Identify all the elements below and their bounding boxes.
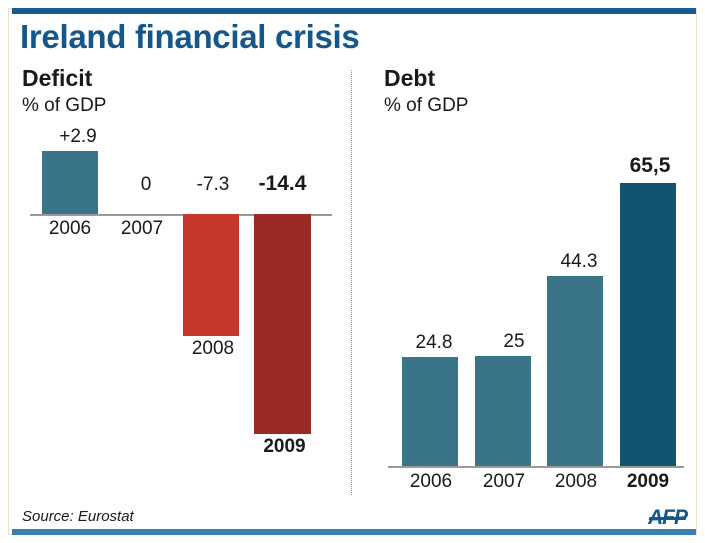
bottom-rule [12, 529, 696, 535]
deficit-value-label-2007: 0 [110, 174, 182, 196]
afp-logo: AFP [648, 506, 687, 530]
debt-value-label-2008: 44.3 [543, 251, 615, 273]
infographic-root: Ireland financial crisis Deficit % of GD… [0, 0, 705, 543]
source-credit: Source: Eurostat [22, 508, 134, 525]
debt-bar-2009 [620, 183, 676, 466]
debt-chart: 24.82544.365,52006200720082009 [384, 140, 684, 480]
debt-year-label-2009: 2009 [615, 471, 681, 493]
deficit-year-label-2009: 2009 [248, 436, 321, 458]
afp-logo-bar [649, 517, 687, 520]
deficit-bar-2008 [183, 214, 239, 336]
panel-deficit: Deficit % of GDP [22, 66, 344, 116]
deficit-year-label-2006: 2006 [34, 218, 106, 240]
panel-debt: Debt % of GDP [384, 66, 684, 116]
page-title: Ireland financial crisis [20, 18, 359, 56]
deficit-bar-2009 [254, 214, 311, 434]
deficit-year-label-2008: 2008 [177, 338, 249, 360]
debt-baseline-axis [388, 466, 684, 468]
deficit-year-label-2007: 2007 [106, 218, 178, 240]
debt-value-label-2007: 25 [478, 331, 550, 353]
debt-value-label-2009: 65,5 [614, 154, 686, 178]
deficit-value-label-2008: -7.3 [177, 174, 249, 196]
debt-bar-2008 [547, 276, 603, 466]
top-rule [12, 8, 696, 14]
deficit-bar-2006 [42, 151, 98, 214]
deficit-value-label-2009: -14.4 [246, 172, 319, 196]
deficit-subtitle: % of GDP [22, 96, 344, 116]
panel-divider [351, 70, 352, 495]
debt-year-label-2006: 2006 [398, 471, 464, 493]
deficit-chart: +2.9200602007-7.32008-14.42009 [22, 140, 342, 505]
debt-subtitle: % of GDP [384, 96, 684, 116]
debt-bar-2006 [402, 357, 458, 466]
deficit-title: Deficit [22, 66, 344, 90]
debt-year-label-2007: 2007 [471, 471, 537, 493]
debt-value-label-2006: 24.8 [398, 332, 470, 354]
deficit-value-label-2006: +2.9 [42, 126, 114, 148]
debt-title: Debt [384, 66, 684, 90]
debt-bar-2007 [475, 356, 531, 466]
debt-year-label-2008: 2008 [543, 471, 609, 493]
